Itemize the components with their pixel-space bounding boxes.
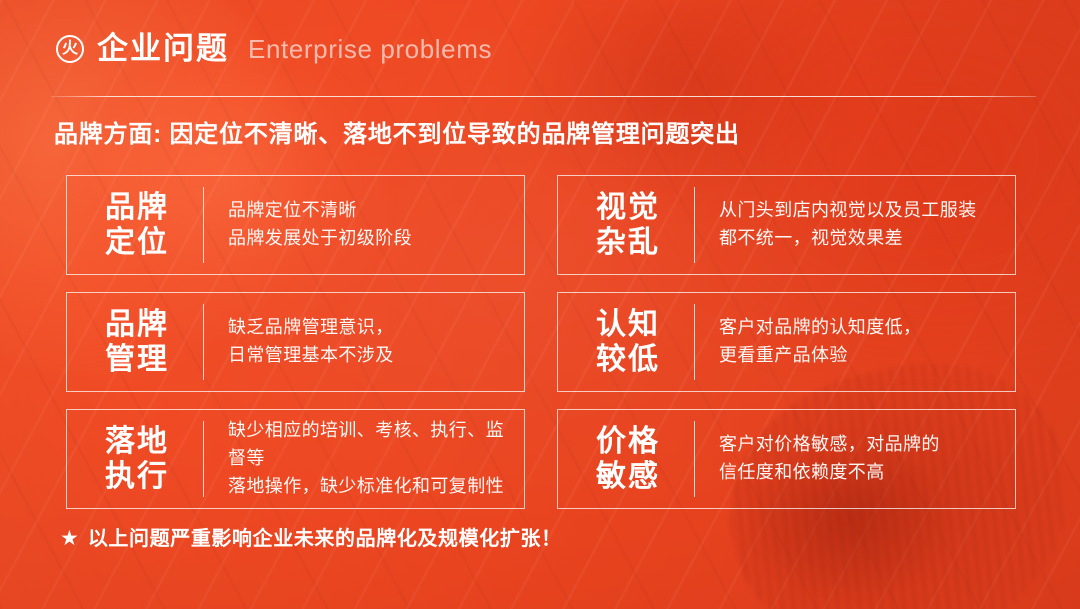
page-title-cn: 企业问题 [97, 33, 229, 64]
header-divider [51, 96, 1036, 97]
problem-card-title: 认知 较低 [558, 307, 694, 378]
problem-card-execution[interactable]: 落地 执行 缺少相应的培训、考核、执行、监督等 落地操作，缺少标准化和可复制性 [66, 409, 525, 509]
fire-icon: 火 [56, 35, 84, 63]
fire-icon-glyph: 火 [62, 41, 78, 57]
page-title-en: Enterprise problems [248, 36, 492, 62]
problem-card-body: 缺少相应的培训、考核、执行、监督等 落地操作，缺少标准化和可复制性 [204, 417, 524, 501]
problem-card-title: 品牌 定位 [67, 190, 203, 261]
star-icon: ★ [60, 528, 79, 549]
footer-note-text: 以上问题严重影响企业未来的品牌化及规模化扩张！ [88, 529, 562, 549]
problem-card-brand-positioning[interactable]: 品牌 定位 品牌定位不清晰 品牌发展处于初级阶段 [66, 175, 525, 275]
problem-card-visual-chaos[interactable]: 视觉 杂乱 从门头到店内视觉以及员工服装 都不统一，视觉效果差 [557, 175, 1016, 275]
problem-card-title: 品牌 管理 [67, 307, 203, 378]
section-subtitle: 品牌方面: 因定位不清晰、落地不到位导致的品牌管理问题突出 [54, 120, 740, 150]
problem-card-body: 品牌定位不清晰 品牌发展处于初级阶段 [204, 197, 524, 253]
slide-content: 火 企业问题 Enterprise problems 品牌方面: 因定位不清晰、… [0, 0, 1080, 609]
slide-root: 火 企业问题 Enterprise problems 品牌方面: 因定位不清晰、… [0, 0, 1080, 609]
problem-card-body: 客户对品牌的认知度低， 更看重产品体验 [695, 314, 1015, 370]
footer-note: ★ 以上问题严重影响企业未来的品牌化及规模化扩张！ [60, 528, 562, 549]
problem-card-grid: 品牌 定位 品牌定位不清晰 品牌发展处于初级阶段 视觉 杂乱 从门头到店内视觉以… [66, 175, 1016, 509]
problem-card-title: 视觉 杂乱 [558, 190, 694, 261]
problem-card-price-sensitive[interactable]: 价格 敏感 客户对价格敏感，对品牌的 信任度和依赖度不高 [557, 409, 1016, 509]
problem-card-body: 客户对价格敏感，对品牌的 信任度和依赖度不高 [695, 431, 1015, 487]
problem-card-title: 价格 敏感 [558, 424, 694, 495]
header: 火 企业问题 Enterprise problems [56, 33, 492, 64]
problem-card-brand-management[interactable]: 品牌 管理 缺乏品牌管理意识， 日常管理基本不涉及 [66, 292, 525, 392]
problem-card-low-awareness[interactable]: 认知 较低 客户对品牌的认知度低， 更看重产品体验 [557, 292, 1016, 392]
problem-card-title: 落地 执行 [67, 424, 203, 495]
problem-card-body: 缺乏品牌管理意识， 日常管理基本不涉及 [204, 314, 524, 370]
problem-card-body: 从门头到店内视觉以及员工服装 都不统一，视觉效果差 [695, 197, 1015, 253]
